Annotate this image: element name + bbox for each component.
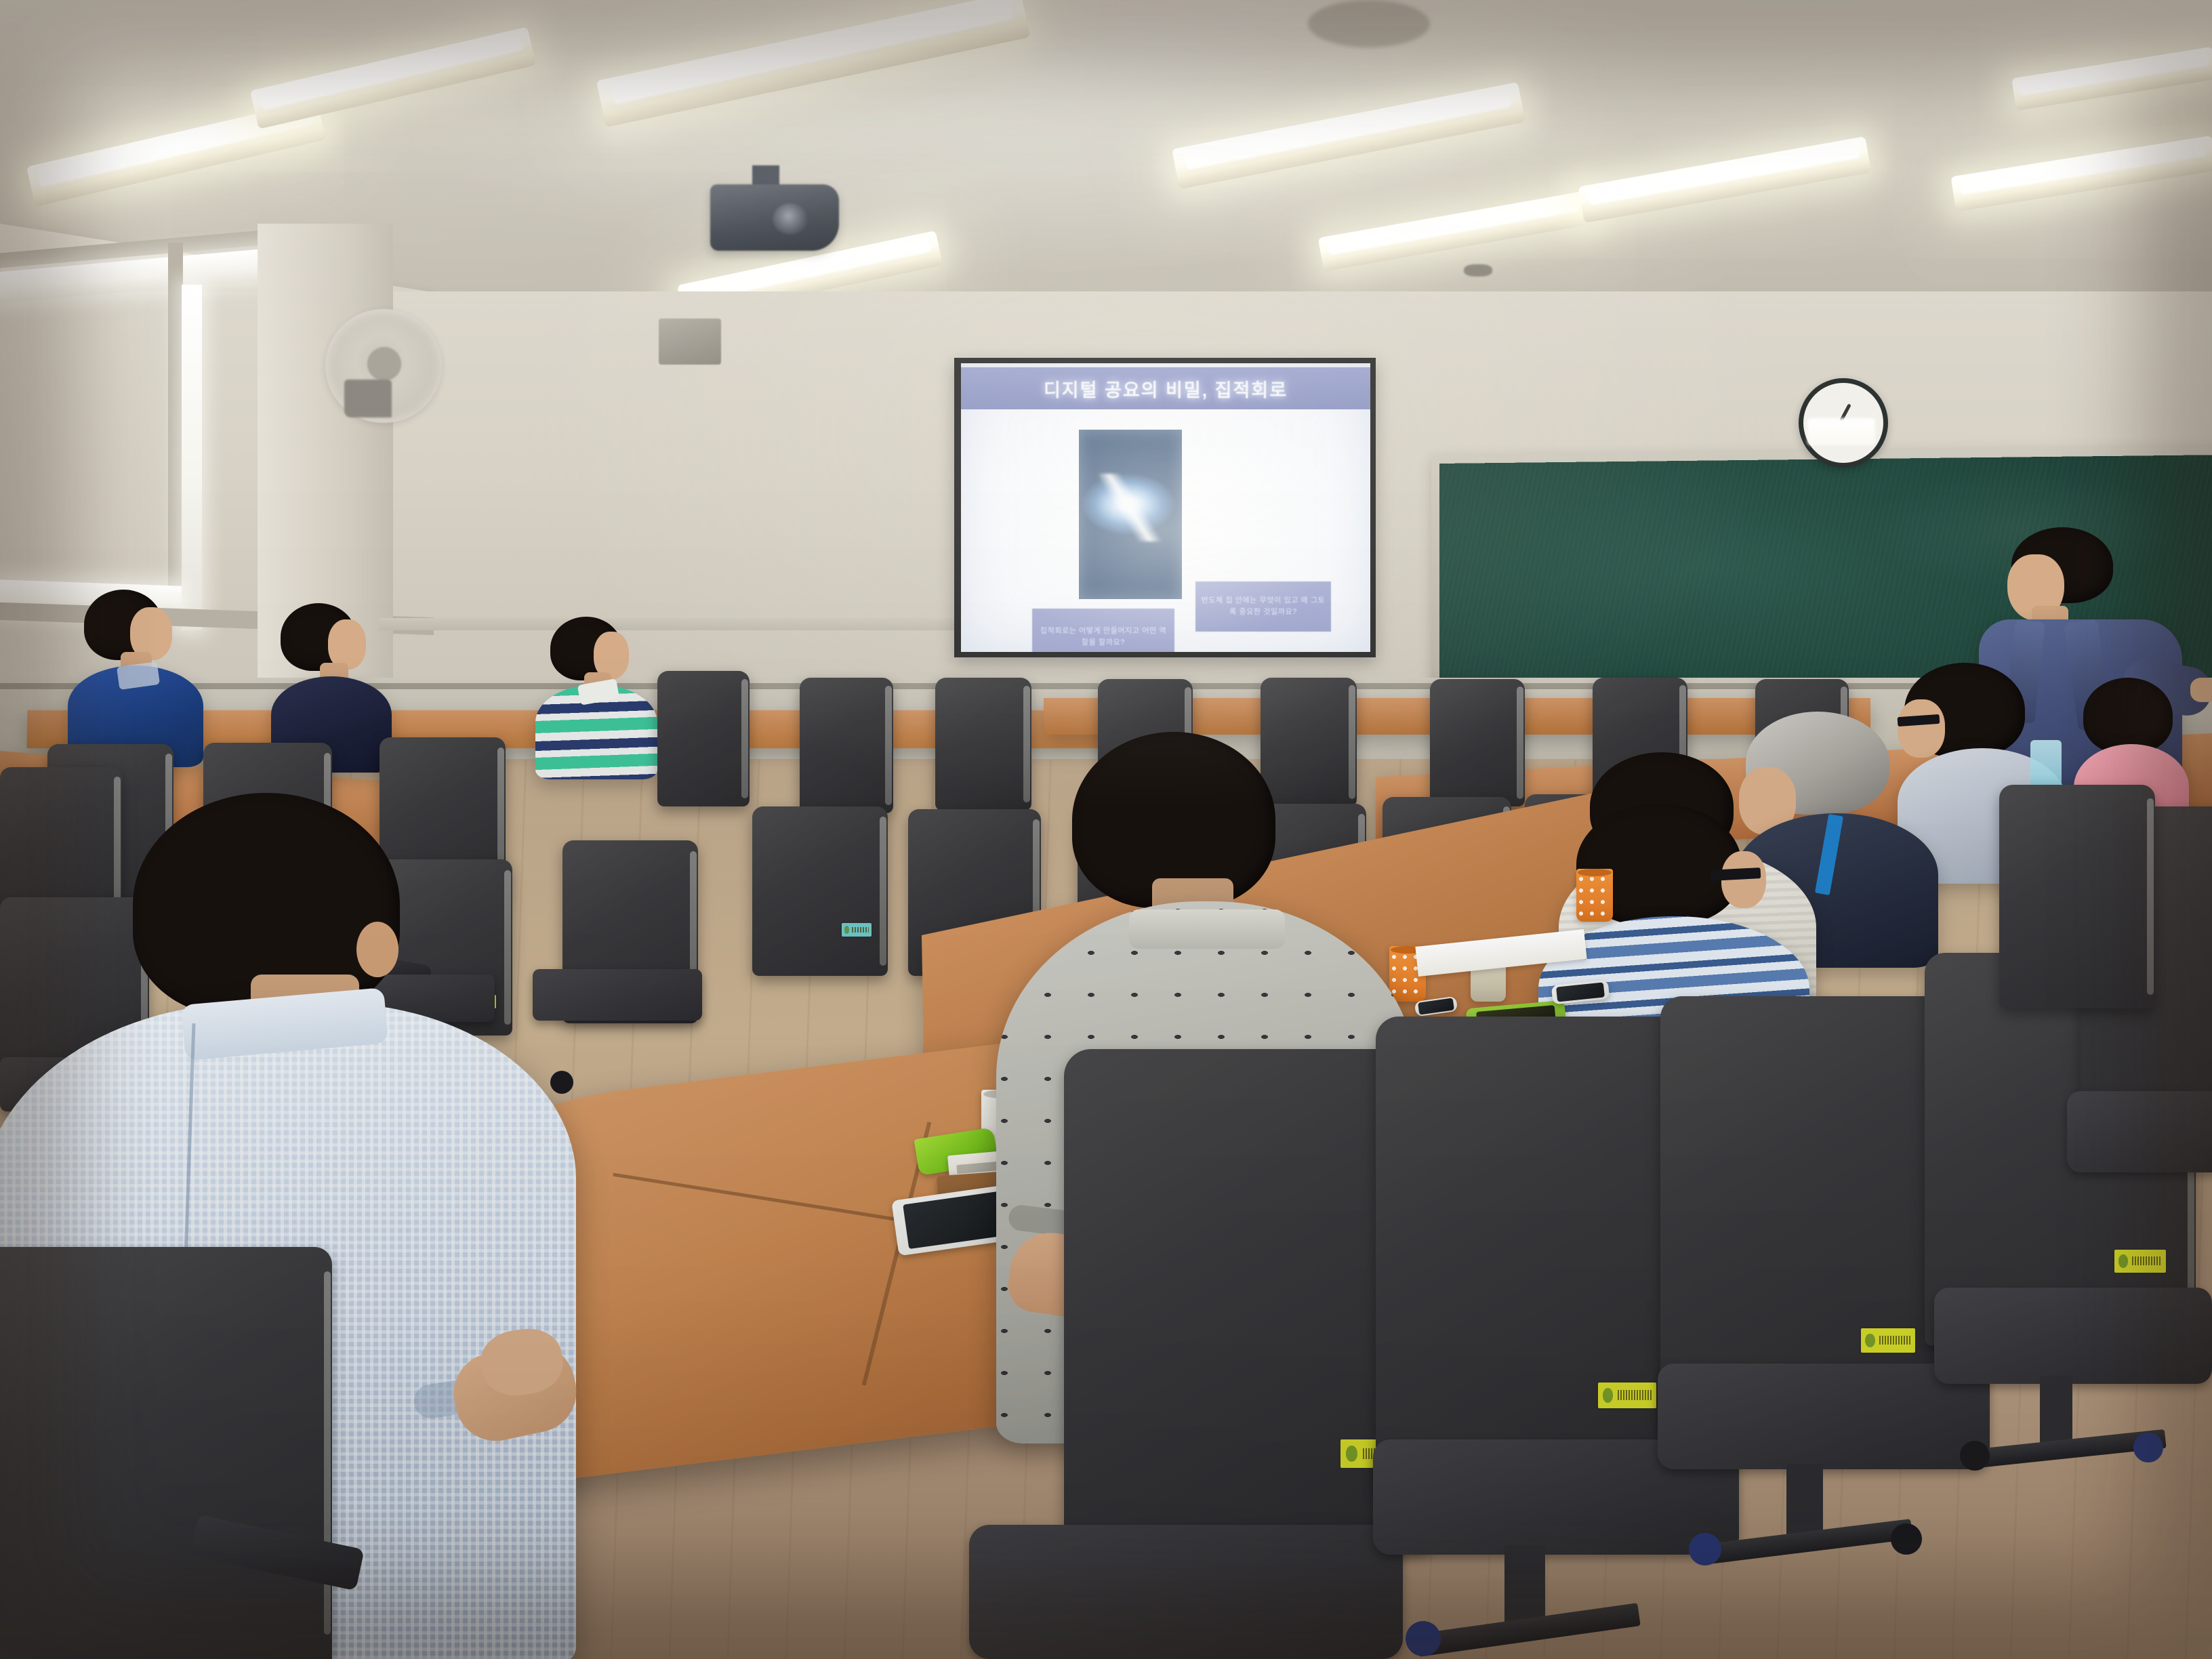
- asset-tag: [2114, 1250, 2166, 1273]
- face: [328, 619, 366, 670]
- slide-photo: [1079, 430, 1182, 599]
- hair: [2083, 678, 2173, 754]
- chair-back[interactable]: [657, 671, 750, 806]
- window-mullion-left: [168, 243, 183, 622]
- caster: [1406, 1621, 1441, 1656]
- fan-hub: [367, 347, 401, 381]
- asset-tag: [842, 923, 872, 937]
- asset-tag: [1861, 1328, 1915, 1353]
- paper-cup-orange[interactable]: [1576, 869, 1613, 922]
- wall-trim-band: [380, 618, 962, 630]
- ear: [356, 922, 398, 977]
- slide-title-bar: 디지털 공요의 비밀, 집적회로: [961, 367, 1370, 409]
- chair-seat[interactable]: [2067, 1091, 2212, 1172]
- clock-glare: [1807, 418, 1875, 445]
- seminar-room-photo: 디지털 공요의 비밀, 집적회로 집적회로는 어떻게 만들어지고 어떤 역할을 …: [0, 0, 2212, 1659]
- projection-screen[interactable]: 디지털 공요의 비밀, 집적회로 집적회로는 어떻게 만들어지고 어떤 역할을 …: [961, 363, 1370, 652]
- chair-back[interactable]: [0, 1247, 332, 1659]
- chair-seat[interactable]: [1934, 1288, 2212, 1384]
- chair-back[interactable]: [752, 806, 888, 976]
- ceiling-vent: [1308, 0, 1430, 47]
- window-strip-left-mid: [182, 285, 202, 630]
- phone-screen: [1556, 982, 1605, 1002]
- slide-text-box-left: 집적회로는 어떻게 만들어지고 어떤 역할을 할까요?: [1032, 609, 1174, 652]
- asset-tag: [1598, 1382, 1656, 1408]
- caster: [2133, 1433, 2163, 1462]
- chair-post: [2040, 1376, 2072, 1448]
- polo-collar: [1129, 909, 1285, 949]
- chair-back[interactable]: [1999, 785, 2155, 1008]
- ceiling-sprinkler: [1464, 264, 1492, 276]
- person-attendee-left-1: [68, 590, 217, 766]
- slide-title: 디지털 공요의 비밀, 집적회로: [1044, 375, 1288, 402]
- caster: [1689, 1533, 1721, 1565]
- speaker-icon: [659, 319, 721, 365]
- projector-icon: [710, 184, 839, 251]
- caster: [1891, 1523, 1922, 1555]
- person-attendee-left-3: [535, 617, 671, 779]
- clock-icon: [1799, 378, 1888, 468]
- chair-back[interactable]: [800, 678, 893, 813]
- chair-seat[interactable]: [969, 1525, 1403, 1659]
- fan-mount: [344, 380, 392, 417]
- caster: [1960, 1441, 1990, 1471]
- chair-back[interactable]: [1376, 1017, 1687, 1491]
- fan-icon: [325, 309, 442, 423]
- slide-text-box-right: 반도체 칩 안에는 무엇이 있고 왜 그토록 중요한 것일까요?: [1195, 581, 1331, 632]
- chair-back[interactable]: [1430, 679, 1525, 806]
- projector-lens: [773, 203, 808, 234]
